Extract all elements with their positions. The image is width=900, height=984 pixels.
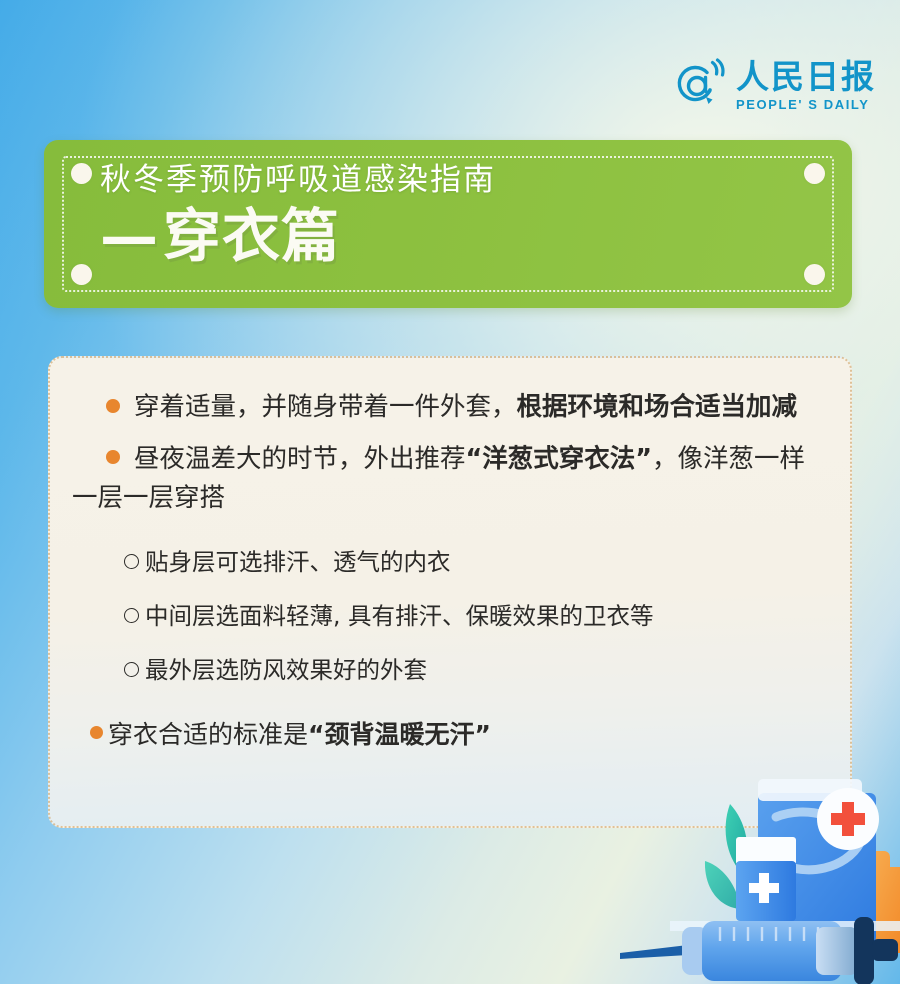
- sub-list-item: 贴身层可选排汗、透气的内衣: [72, 545, 824, 579]
- list-item-emphasis: 根据环境和场合适当加减: [517, 392, 798, 422]
- sub-list-item: 最外层选防风效果好的外套: [72, 653, 824, 687]
- sub-list-item-text: 最外层选防风效果好的外套: [145, 653, 427, 687]
- brand-name-cn: 人民日报: [736, 60, 876, 93]
- leaf-shape: [705, 861, 740, 909]
- list-item-text: 穿衣合适的标准是: [108, 717, 308, 752]
- syringe-flange: [854, 917, 874, 984]
- content-card-body: 穿着适量，并随身带着一件外套，根据环境和场合适当加减 昼夜温差大的时节，外出推荐…: [50, 358, 850, 752]
- list-item-text: 昼夜温差大的时节，外出推荐: [134, 444, 466, 474]
- bullet-dot-icon: [106, 399, 120, 413]
- list-item: 穿着适量，并随身带着一件外套，根据环境和场合适当加减: [72, 388, 824, 428]
- list-item: 穿衣合适的标准是“颈背温暖无汗”: [72, 717, 824, 752]
- banner-notch-top-left: [71, 163, 92, 184]
- syringe-thumbrest: [872, 939, 898, 961]
- sub-list-item-text: 中间层选面料轻薄, 具有排汗、保暖效果的卫衣等: [145, 599, 653, 633]
- brand-name-en: PEOPLE' S DAILY: [736, 98, 876, 111]
- bullet-dot-icon: [90, 726, 103, 739]
- sub-list-item-text: 贴身层可选排汗、透气的内衣: [145, 545, 451, 579]
- brand-logo: 人民日报 PEOPLE' S DAILY: [673, 56, 876, 112]
- list-item-text: 穿着适量，并随身带着一件外套，: [134, 392, 517, 422]
- content-card: 穿着适量，并随身带着一件外套，根据环境和场合适当加减 昼夜温差大的时节，外出推荐…: [48, 356, 852, 828]
- bullet-ring-icon: [124, 662, 139, 677]
- syringe-needle: [620, 945, 688, 959]
- at-signal-icon: [673, 56, 729, 112]
- header-banner: 秋冬季预防呼吸道感染指南 — 穿衣篇: [44, 140, 852, 308]
- poster-root: 人民日报 PEOPLE' S DAILY 秋冬季预防呼吸道感染指南 — 穿衣篇 …: [0, 0, 900, 984]
- list-item-emphasis: “颈背温暖无汗”: [308, 717, 491, 752]
- list-item-emphasis: “洋葱式穿衣法”: [466, 444, 653, 474]
- medical-supplies-illustration: [610, 769, 900, 984]
- banner-subtitle: 秋冬季预防呼吸道感染指南: [100, 162, 812, 199]
- banner-notch-bottom-left: [71, 264, 92, 285]
- bullet-dot-icon: [106, 450, 120, 464]
- bullet-ring-icon: [124, 554, 139, 569]
- list-item: 昼夜温差大的时节，外出推荐“洋葱式穿衣法”，像洋葱一样一层一层穿搭: [72, 440, 824, 519]
- syringe-plunger: [816, 927, 858, 975]
- page-title: 穿衣篇: [163, 205, 340, 269]
- brand-logo-text: 人民日报 PEOPLE' S DAILY: [736, 56, 876, 111]
- banner-content: 秋冬季预防呼吸道感染指南 — 穿衣篇: [100, 162, 812, 269]
- bottle-cap: [736, 837, 796, 865]
- bullet-ring-icon: [124, 608, 139, 623]
- banner-dash-mark: —: [100, 205, 159, 269]
- banner-title-row: — 穿衣篇: [100, 205, 812, 269]
- sub-list-item: 中间层选面料轻薄, 具有排汗、保暖效果的卫衣等: [72, 599, 824, 633]
